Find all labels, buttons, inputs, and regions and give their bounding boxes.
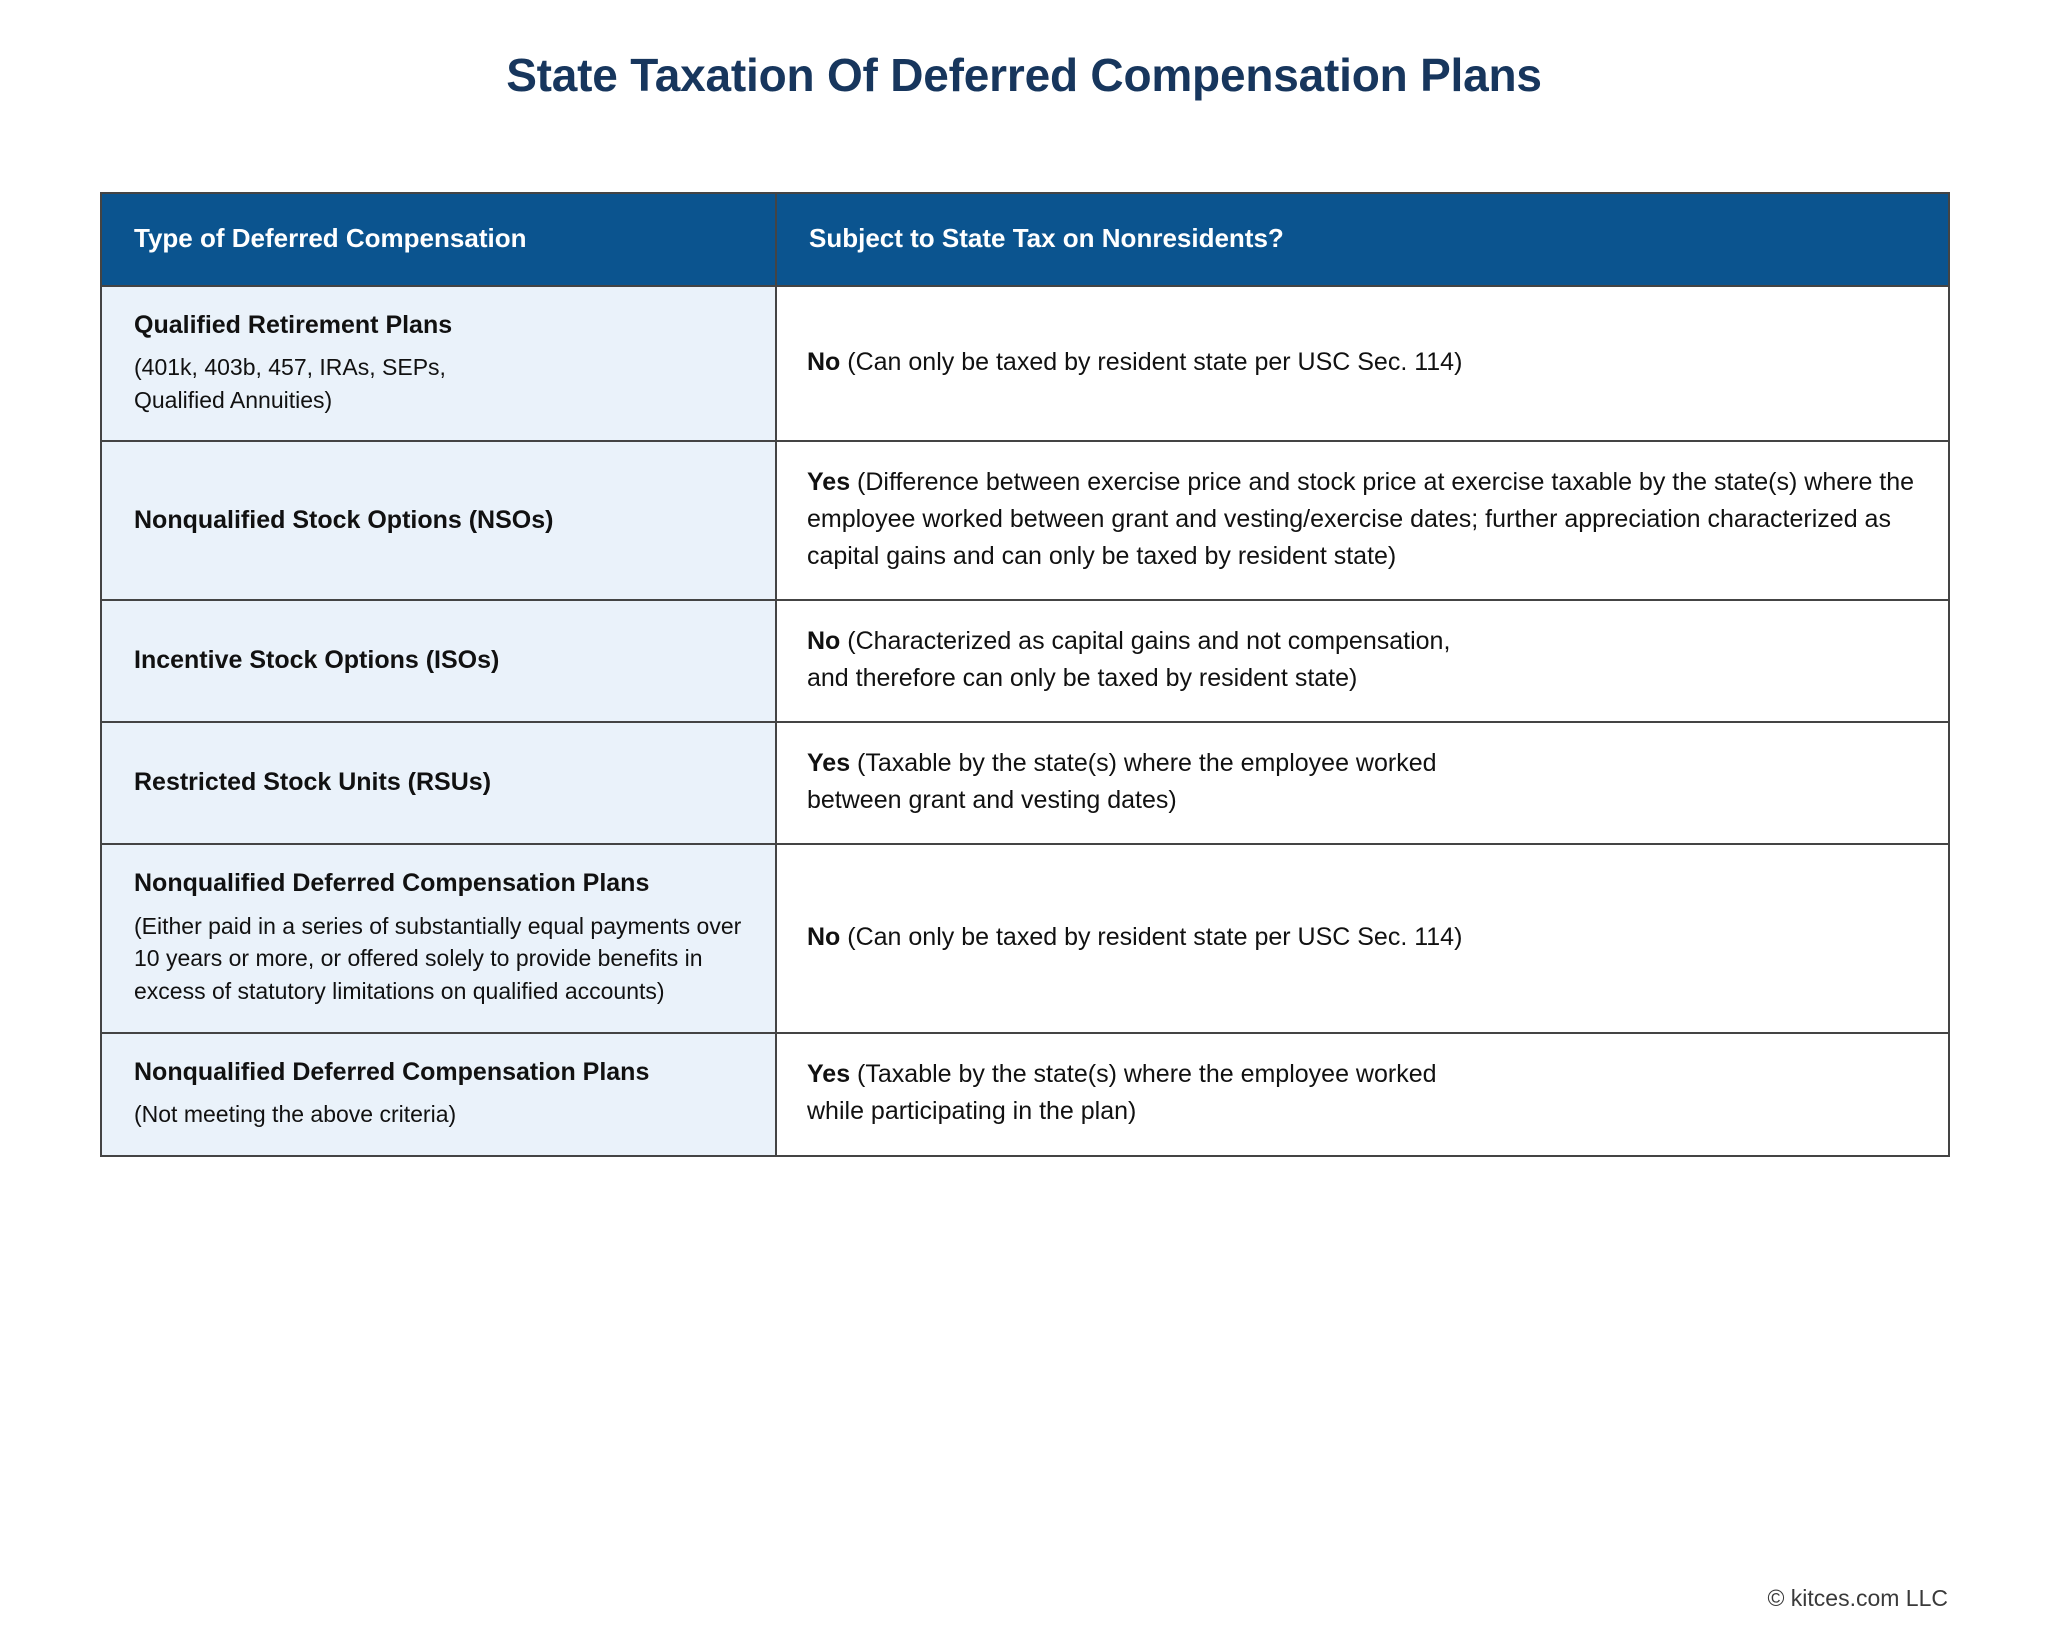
type-title: Nonqualified Stock Options (NSOs) [134, 504, 743, 537]
cell-answer: Yes (Difference between exercise price a… [776, 441, 1949, 600]
answer-detail: (Difference between exercise price and s… [807, 468, 1914, 570]
cell-answer: Yes (Taxable by the state(s) where the e… [776, 722, 1949, 844]
answer-detail: (Characterized as capital gains and not … [807, 627, 1450, 692]
cell-answer: No (Can only be taxed by resident state … [776, 286, 1949, 442]
copyright-credit: © kitces.com LLC [1767, 1585, 1948, 1612]
type-title: Nonqualified Deferred Compensation Plans [134, 1056, 743, 1089]
answer-text: No (Characterized as capital gains and n… [807, 623, 1918, 697]
cell-type: Restricted Stock Units (RSUs) [101, 722, 776, 844]
deferred-comp-table-container: Type of Deferred Compensation Subject to… [100, 192, 1948, 1157]
cell-type: Nonqualified Deferred Compensation Plans… [101, 1033, 776, 1156]
type-title: Qualified Retirement Plans [134, 309, 743, 342]
answer-verdict: No [807, 348, 840, 376]
table-row: Nonqualified Stock Options (NSOs) Yes (D… [101, 441, 1949, 600]
table-row: Restricted Stock Units (RSUs) Yes (Taxab… [101, 722, 1949, 844]
answer-text: No (Can only be taxed by resident state … [807, 344, 1918, 381]
type-title: Incentive Stock Options (ISOs) [134, 644, 743, 677]
table-row: Incentive Stock Options (ISOs) No (Chara… [101, 600, 1949, 722]
type-subtitle: (401k, 403b, 457, IRAs, SEPs, Qualified … [134, 351, 743, 416]
answer-verdict: Yes [807, 749, 850, 777]
answer-text: Yes (Taxable by the state(s) where the e… [807, 745, 1918, 819]
table-header: Type of Deferred Compensation Subject to… [101, 193, 1949, 286]
answer-verdict: Yes [807, 468, 850, 496]
type-title: Nonqualified Deferred Compensation Plans [134, 867, 743, 900]
cell-type: Incentive Stock Options (ISOs) [101, 600, 776, 722]
cell-answer: No (Can only be taxed by resident state … [776, 844, 1949, 1032]
cell-type: Nonqualified Stock Options (NSOs) [101, 441, 776, 600]
table-body: Qualified Retirement Plans (401k, 403b, … [101, 286, 1949, 1156]
type-subtitle: (Not meeting the above criteria) [134, 1098, 743, 1131]
answer-detail: (Can only be taxed by resident state per… [840, 923, 1462, 951]
table-row: Qualified Retirement Plans (401k, 403b, … [101, 286, 1949, 442]
cell-answer: No (Characterized as capital gains and n… [776, 600, 1949, 722]
answer-verdict: No [807, 923, 840, 951]
answer-detail: (Taxable by the state(s) where the emplo… [807, 749, 1437, 814]
answer-verdict: Yes [807, 1060, 850, 1088]
cell-type: Nonqualified Deferred Compensation Plans… [101, 844, 776, 1032]
answer-text: No (Can only be taxed by resident state … [807, 919, 1918, 956]
answer-verdict: No [807, 627, 840, 655]
answer-detail: (Taxable by the state(s) where the emplo… [807, 1060, 1437, 1125]
type-title: Restricted Stock Units (RSUs) [134, 766, 743, 799]
cell-type: Qualified Retirement Plans (401k, 403b, … [101, 286, 776, 442]
state-taxation-table: Type of Deferred Compensation Subject to… [100, 192, 1950, 1157]
table-header-row: Type of Deferred Compensation Subject to… [101, 193, 1949, 286]
page-title: State Taxation Of Deferred Compensation … [0, 0, 2048, 103]
answer-text: Yes (Taxable by the state(s) where the e… [807, 1056, 1918, 1130]
table-row: Nonqualified Deferred Compensation Plans… [101, 1033, 1949, 1156]
type-subtitle: (Either paid in a series of substantiall… [134, 910, 743, 1008]
answer-detail: (Can only be taxed by resident state per… [840, 348, 1462, 376]
table-row: Nonqualified Deferred Compensation Plans… [101, 844, 1949, 1032]
column-header-subject-to-tax: Subject to State Tax on Nonresidents? [776, 193, 1949, 286]
cell-answer: Yes (Taxable by the state(s) where the e… [776, 1033, 1949, 1156]
answer-text: Yes (Difference between exercise price a… [807, 464, 1918, 575]
column-header-type: Type of Deferred Compensation [101, 193, 776, 286]
